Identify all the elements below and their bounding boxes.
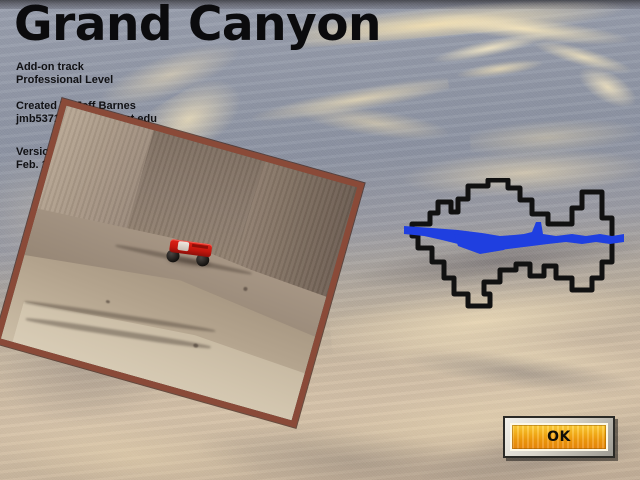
difficulty-label: Professional Level — [16, 74, 113, 87]
track-type-label: Add-on track — [16, 61, 113, 74]
track-info-block: Add-on track Professional Level — [16, 61, 113, 87]
track-map — [396, 178, 628, 310]
truck-stripe — [192, 244, 208, 249]
splash-screen: Grand Canyon Add-on track Professional L… — [0, 0, 640, 480]
page-title: Grand Canyon — [14, 0, 381, 52]
ok-button-face: OK — [510, 423, 608, 451]
ok-button-label: OK — [547, 429, 571, 445]
ok-button[interactable]: OK — [505, 418, 613, 456]
truck-cab — [177, 241, 189, 251]
river-path — [404, 222, 624, 252]
